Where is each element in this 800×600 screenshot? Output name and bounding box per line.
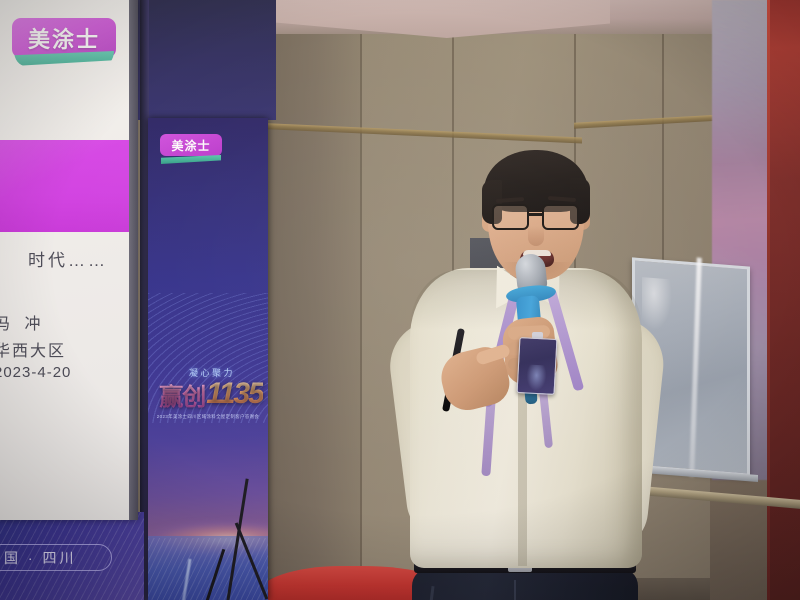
screen-date: 2023-4-20	[0, 364, 71, 381]
screen-title: 时代……	[28, 246, 108, 271]
banner-main-title: 赢创 1135	[154, 376, 268, 412]
glasses-lens	[542, 204, 579, 230]
banner-subtitle: 2023年美涂士四川区域涂料全屋定制客户答谢会	[152, 414, 264, 420]
column-lower-wood	[710, 460, 772, 600]
lower-banner-pill: 中国 · 四川	[0, 544, 112, 571]
badge-glare	[526, 364, 547, 391]
banner-logo: 美涂士	[160, 134, 222, 164]
column-red	[770, 0, 800, 600]
presenter	[392, 150, 662, 600]
banner-top-shadow	[136, 0, 276, 120]
screen-logo-text: 美涂士	[28, 22, 100, 54]
banner-logo-swoosh-icon	[161, 155, 221, 164]
conference-badge	[517, 337, 558, 395]
panel-seam	[662, 24, 664, 274]
panel-seam	[360, 24, 362, 600]
whiteboard-glare	[689, 257, 702, 477]
rollup-banner: 美涂士 凝心聚力 赢创 1135 2023年美涂士四川区域涂料全屋定制客户答谢会…	[148, 118, 268, 600]
projection-screen: 美涂士 时代…… 冯 冲 华西大区 2023-4-20	[0, 0, 136, 520]
glasses-lens	[492, 204, 529, 230]
screen-speaker: 冯 冲	[0, 310, 45, 334]
conference-photo: 美涂士 凝心聚力 赢创 1135 2023年美涂士四川区域涂料全屋定制客户答谢会…	[0, 0, 800, 600]
screen-magenta-band	[0, 140, 130, 232]
banner-main-num: 1135	[206, 377, 263, 411]
lower-banner-location: 中国 · 四川	[0, 548, 76, 568]
trouser-crease	[514, 580, 516, 600]
screen-region: 华西大区	[0, 337, 66, 361]
nose	[528, 226, 544, 246]
banner-main-cn: 赢创	[159, 377, 205, 412]
screen-logo: 美涂士	[12, 18, 116, 70]
banner-logo-text: 美涂士	[171, 137, 210, 154]
screen-frame	[129, 0, 138, 520]
glasses-bridge	[529, 213, 542, 216]
lower-banner-strip: 中国 · 四川	[0, 512, 144, 600]
